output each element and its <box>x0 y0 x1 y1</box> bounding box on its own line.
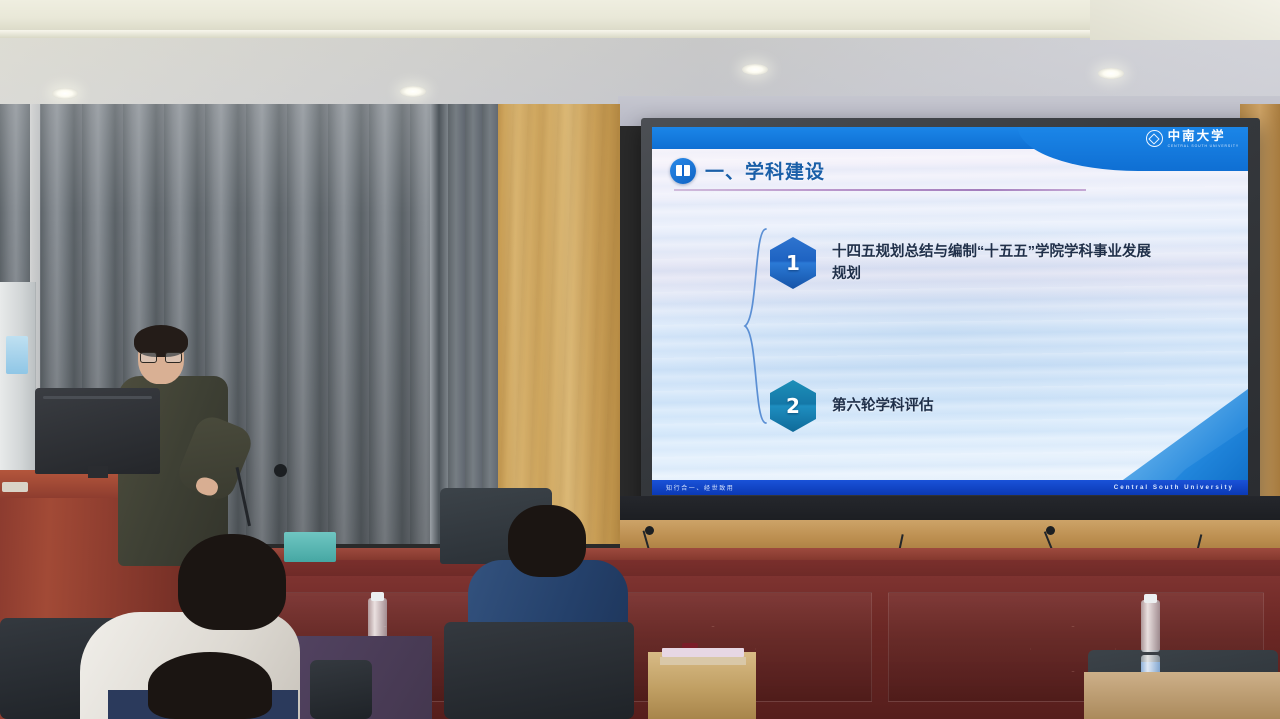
notebook <box>662 648 744 657</box>
item-number-badge: 1 <box>770 237 816 289</box>
notebook <box>660 657 746 665</box>
footer-motto-cn: 知行合一、经世致用 <box>666 483 734 492</box>
book-icon <box>670 158 696 184</box>
university-logo: 中南大学 CENTRAL SOUTH UNIVERSITY <box>1146 130 1239 148</box>
downlight-icon <box>1098 68 1124 79</box>
monitor-stand <box>88 466 108 478</box>
list-item[interactable]: 2 第六轮学科评估 <box>770 380 934 432</box>
wood-wall-panel <box>498 104 620 544</box>
water-bottle <box>1141 600 1160 652</box>
title-underline <box>674 189 1086 191</box>
stage-desk-back <box>620 496 1280 522</box>
downlight-icon <box>52 88 78 99</box>
page-title: 一、学科建设 <box>705 157 825 184</box>
slide-title-row: 一、学科建设 <box>670 157 825 184</box>
microphone-head <box>1046 526 1055 535</box>
downlight-icon <box>400 86 426 97</box>
teal-tissue-box <box>284 532 336 562</box>
conference-room-scene: 中南大学 CENTRAL SOUTH UNIVERSITY 一、学科建设 1 十… <box>0 0 1280 719</box>
attendee-navy-polo-head <box>508 505 586 577</box>
microphone-head <box>645 526 654 535</box>
list-item[interactable]: 1 十四五规划总结与编制“十五五”学院学科事业发展规划 <box>770 237 1152 289</box>
window-curtain-secondary <box>448 104 498 544</box>
cabinet-label <box>6 336 28 374</box>
curly-brace-icon <box>742 227 770 425</box>
item-number-badge: 2 <box>770 380 816 432</box>
glasses-icon <box>140 352 182 365</box>
bottle-cap <box>371 592 384 601</box>
attendee-gray-shirt-head <box>148 652 272 719</box>
pen <box>682 643 698 648</box>
presentation-slide[interactable]: 中南大学 CENTRAL SOUTH UNIVERSITY 一、学科建设 1 十… <box>652 127 1248 495</box>
university-seal-icon <box>1146 130 1163 147</box>
audience-chair <box>310 660 372 719</box>
curtain-edge <box>430 104 448 544</box>
ceiling-corner <box>1090 0 1280 40</box>
podium-monitor <box>35 388 160 474</box>
footer-motto-en: Central South University <box>1114 484 1234 491</box>
item-label: 十四五规划总结与编制“十五五”学院学科事业发展规划 <box>832 241 1152 286</box>
logo-name-cn: 中南大学 <box>1168 130 1239 143</box>
audience-chair <box>444 622 634 719</box>
audience-desk <box>1084 672 1280 719</box>
podium-control-panel[interactable] <box>2 482 28 492</box>
item-number: 1 <box>786 251 800 275</box>
downlight-icon <box>742 64 768 75</box>
microphone-head <box>274 464 287 477</box>
item-number: 2 <box>786 394 800 418</box>
slide-footer: 知行合一、经世致用 Central South University <box>652 480 1248 495</box>
ceiling-lip <box>0 30 1280 38</box>
item-label: 第六轮学科评估 <box>832 395 934 417</box>
attendee-white-shirt-head <box>178 534 286 630</box>
logo-name-en: CENTRAL SOUTH UNIVERSITY <box>1168 145 1239 148</box>
ceiling-soffit <box>0 0 1280 30</box>
bottle-cap <box>1144 594 1157 603</box>
